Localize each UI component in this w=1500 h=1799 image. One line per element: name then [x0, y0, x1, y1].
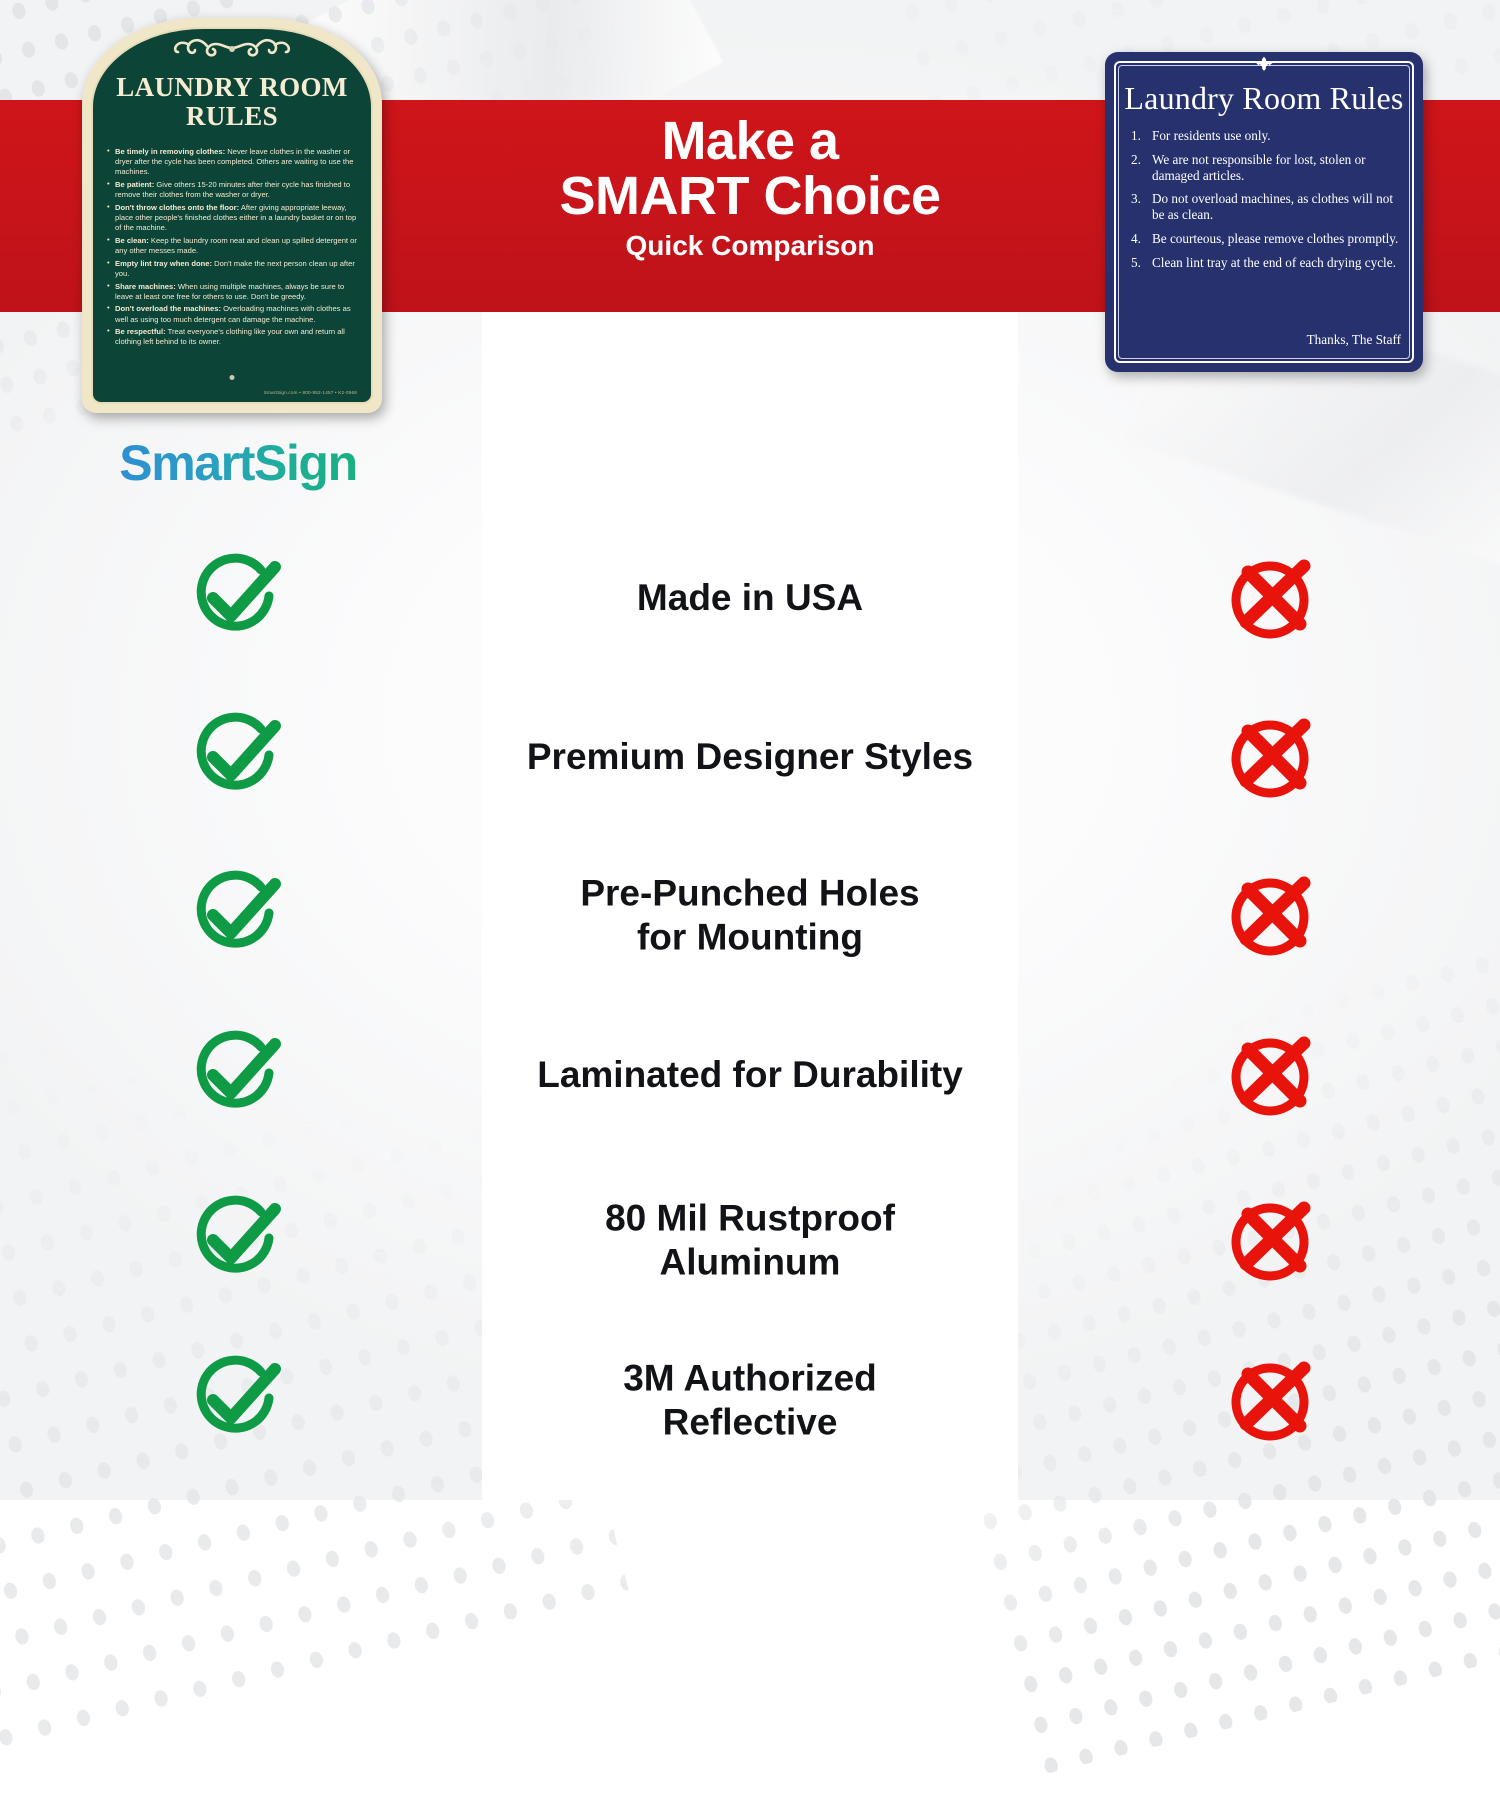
sign-face: LAUNDRY ROOM RULES Be timely in removing… — [91, 27, 373, 404]
rule-number: 5. — [1131, 255, 1141, 271]
left-sign-rule-item: Be respectful: Treat everyone's clothing… — [107, 327, 359, 347]
feature-label: 80 Mil RustproofAluminum — [482, 1196, 1018, 1283]
rule-number: 4. — [1131, 231, 1141, 247]
feature-label: Made in USA — [482, 576, 1018, 620]
left-sign-rules-list: Be timely in removing clothes: Never lea… — [107, 147, 359, 350]
left-sign-title-line1: LAUNDRY ROOM — [93, 73, 371, 102]
x-circle-icon — [1140, 702, 1400, 812]
right-sign-signoff: Thanks, The Staff — [1307, 332, 1401, 348]
feature-label: 3M AuthorizedReflective — [482, 1356, 1018, 1443]
feature-label: Laminated for Durability — [482, 1053, 1018, 1097]
check-circle-icon — [105, 860, 365, 970]
right-sign-rules-list: 1.For residents use only.2.We are not re… — [1131, 128, 1403, 278]
x-circle-icon — [1140, 1185, 1400, 1295]
left-sign-rule-item: Be patient: Give others 15-20 minutes af… — [107, 180, 359, 200]
check-circle-icon — [105, 1185, 365, 1295]
rule-number: 2. — [1131, 152, 1141, 168]
left-sign-rule-item: Don't overload the machines: Overloading… — [107, 304, 359, 324]
right-sign-rule-item: 4.Be courteous, please remove clothes pr… — [1131, 231, 1403, 247]
left-sign-rule-item: Be clean: Keep the laundry room neat and… — [107, 236, 359, 256]
right-sign-rule-item: 5.Clean lint tray at the end of each dry… — [1131, 255, 1403, 271]
check-circle-icon — [105, 1020, 365, 1130]
check-circle-icon — [105, 1345, 365, 1455]
left-sign-rule-item: Share machines: When using multiple mach… — [107, 282, 359, 302]
x-circle-icon — [1140, 1020, 1400, 1130]
rule-number: 3. — [1131, 191, 1141, 207]
header-banner-text: Make a SMART Choice Quick Comparison — [482, 100, 1018, 312]
right-sign-rule-item: 2.We are not responsible for lost, stole… — [1131, 152, 1403, 184]
banner-subtitle: Quick Comparison — [482, 230, 1018, 262]
banner-title-line1: Make a — [482, 114, 1018, 169]
x-circle-icon — [1140, 1345, 1400, 1455]
right-sign-title: Laundry Room Rules — [1105, 80, 1423, 117]
feature-label: Premium Designer Styles — [482, 735, 1018, 779]
left-sign-title-line2: RULES — [93, 102, 371, 131]
check-circle-icon — [105, 543, 365, 653]
feature-label: Pre-Punched Holesfor Mounting — [482, 871, 1018, 958]
check-circle-icon — [105, 702, 365, 812]
x-circle-icon — [1140, 543, 1400, 653]
smartsign-logo: SmartSign — [105, 432, 371, 494]
left-sign-rule-item: Don't throw clothes onto the floor: Afte… — [107, 203, 359, 234]
scroll-ornament-icon — [166, 34, 298, 60]
left-sign-rule-item: Empty lint tray when done: Don't make th… — [107, 259, 359, 279]
rule-number: 1. — [1131, 128, 1141, 144]
competitor-product-image: Laundry Room Rules 1.For residents use o… — [1105, 52, 1423, 372]
right-sign-rule-item: 1.For residents use only. — [1131, 128, 1403, 144]
right-sign-rule-item: 3.Do not overload machines, as clothes w… — [1131, 191, 1403, 223]
smartsign-logo-text: SmartSign — [119, 434, 356, 492]
left-sign-rule-item: Be timely in removing clothes: Never lea… — [107, 147, 359, 178]
smartsign-product-image: LAUNDRY ROOM RULES Be timely in removing… — [82, 18, 382, 413]
diamond-ornament-icon — [1247, 54, 1281, 80]
left-sign-fine-print: SmartSign.com • 800-952-1457 • K2-0568 — [93, 390, 357, 395]
sign-center-dot — [230, 375, 235, 380]
banner-title-line2: SMART Choice — [482, 169, 1018, 224]
x-circle-icon — [1140, 860, 1400, 970]
sign-face: Laundry Room Rules 1.For residents use o… — [1105, 52, 1423, 372]
